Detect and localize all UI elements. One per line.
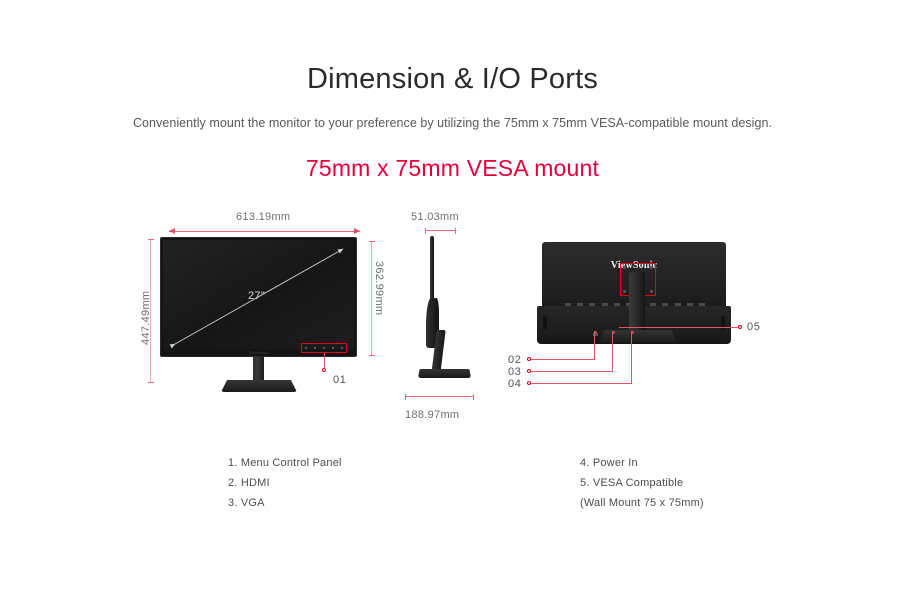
legend-item: 2. HDMI bbox=[228, 473, 342, 493]
monitor-front-stand-base bbox=[221, 380, 297, 392]
callout-04-leader-line bbox=[531, 383, 631, 384]
callout-04-label: 04 bbox=[508, 378, 521, 390]
vesa-mount-heading: 75mm x 75mm VESA mount bbox=[0, 155, 905, 182]
vesa-screw-hole bbox=[650, 266, 653, 269]
side-depth-dimension-label: 51.03mm bbox=[411, 211, 459, 223]
front-screen-height-dimension-line bbox=[371, 241, 372, 356]
side-depth-dimension-line bbox=[425, 230, 456, 231]
side-base-depth-dimension-label: 188.97mm bbox=[405, 409, 459, 421]
legend-item: (Wall Mount 75 x 75mm) bbox=[580, 493, 704, 513]
vesa-screw-hole bbox=[623, 290, 626, 293]
callout-02-label: 02 bbox=[508, 354, 521, 366]
monitor-side-stand-base bbox=[418, 369, 471, 378]
front-height-dimension-label: 447.49mm bbox=[140, 291, 152, 345]
side-base-depth-dimension-line bbox=[405, 396, 474, 397]
callout-01-leader-dot bbox=[322, 368, 326, 372]
legend-item: 3. VGA bbox=[228, 493, 342, 513]
rear-left-edge-detail bbox=[543, 316, 547, 330]
legend-item: 5. VESA Compatible bbox=[580, 473, 704, 493]
callout-01-label: 01 bbox=[333, 374, 346, 386]
callout-05-label: 05 bbox=[747, 321, 760, 333]
callout-03-leader-riser bbox=[612, 331, 613, 372]
monitor-rear-stand-base bbox=[599, 330, 677, 343]
vesa-screw-hole bbox=[623, 266, 626, 269]
callout-05-leader-dot bbox=[738, 325, 742, 329]
page-subtitle: Conveniently mount the monitor to your p… bbox=[0, 116, 905, 130]
monitor-front-stand-neck bbox=[253, 357, 264, 382]
page-title: Dimension & I/O Ports bbox=[0, 63, 905, 96]
legend-left-column: 1. Menu Control Panel 2. HDMI 3. VGA bbox=[228, 453, 342, 513]
legend-right-column: 4. Power In 5. VESA Compatible (Wall Mou… bbox=[580, 453, 704, 513]
callout-04-leader-riser bbox=[631, 331, 632, 384]
callout-02-leader-riser bbox=[594, 331, 595, 360]
legend-item: 4. Power In bbox=[580, 453, 704, 473]
legend-item: 1. Menu Control Panel bbox=[228, 453, 342, 473]
vesa-screw-hole bbox=[650, 290, 653, 293]
callout-03-label: 03 bbox=[508, 366, 521, 378]
callout-01-leader-line bbox=[324, 353, 325, 369]
front-screen-height-dimension-label: 362.99mm bbox=[373, 261, 385, 315]
monitor-rear-stand-neck bbox=[629, 272, 645, 334]
front-width-dimension-label: 613.19mm bbox=[236, 211, 290, 223]
callout-02-leader-line bbox=[531, 359, 594, 360]
menu-control-panel-buttons bbox=[305, 347, 343, 350]
front-width-dimension-line bbox=[169, 231, 360, 232]
callout-05-leader-line bbox=[619, 327, 739, 328]
screen-diagonal-label: 27" bbox=[248, 290, 265, 302]
callout-03-leader-line bbox=[531, 371, 612, 372]
